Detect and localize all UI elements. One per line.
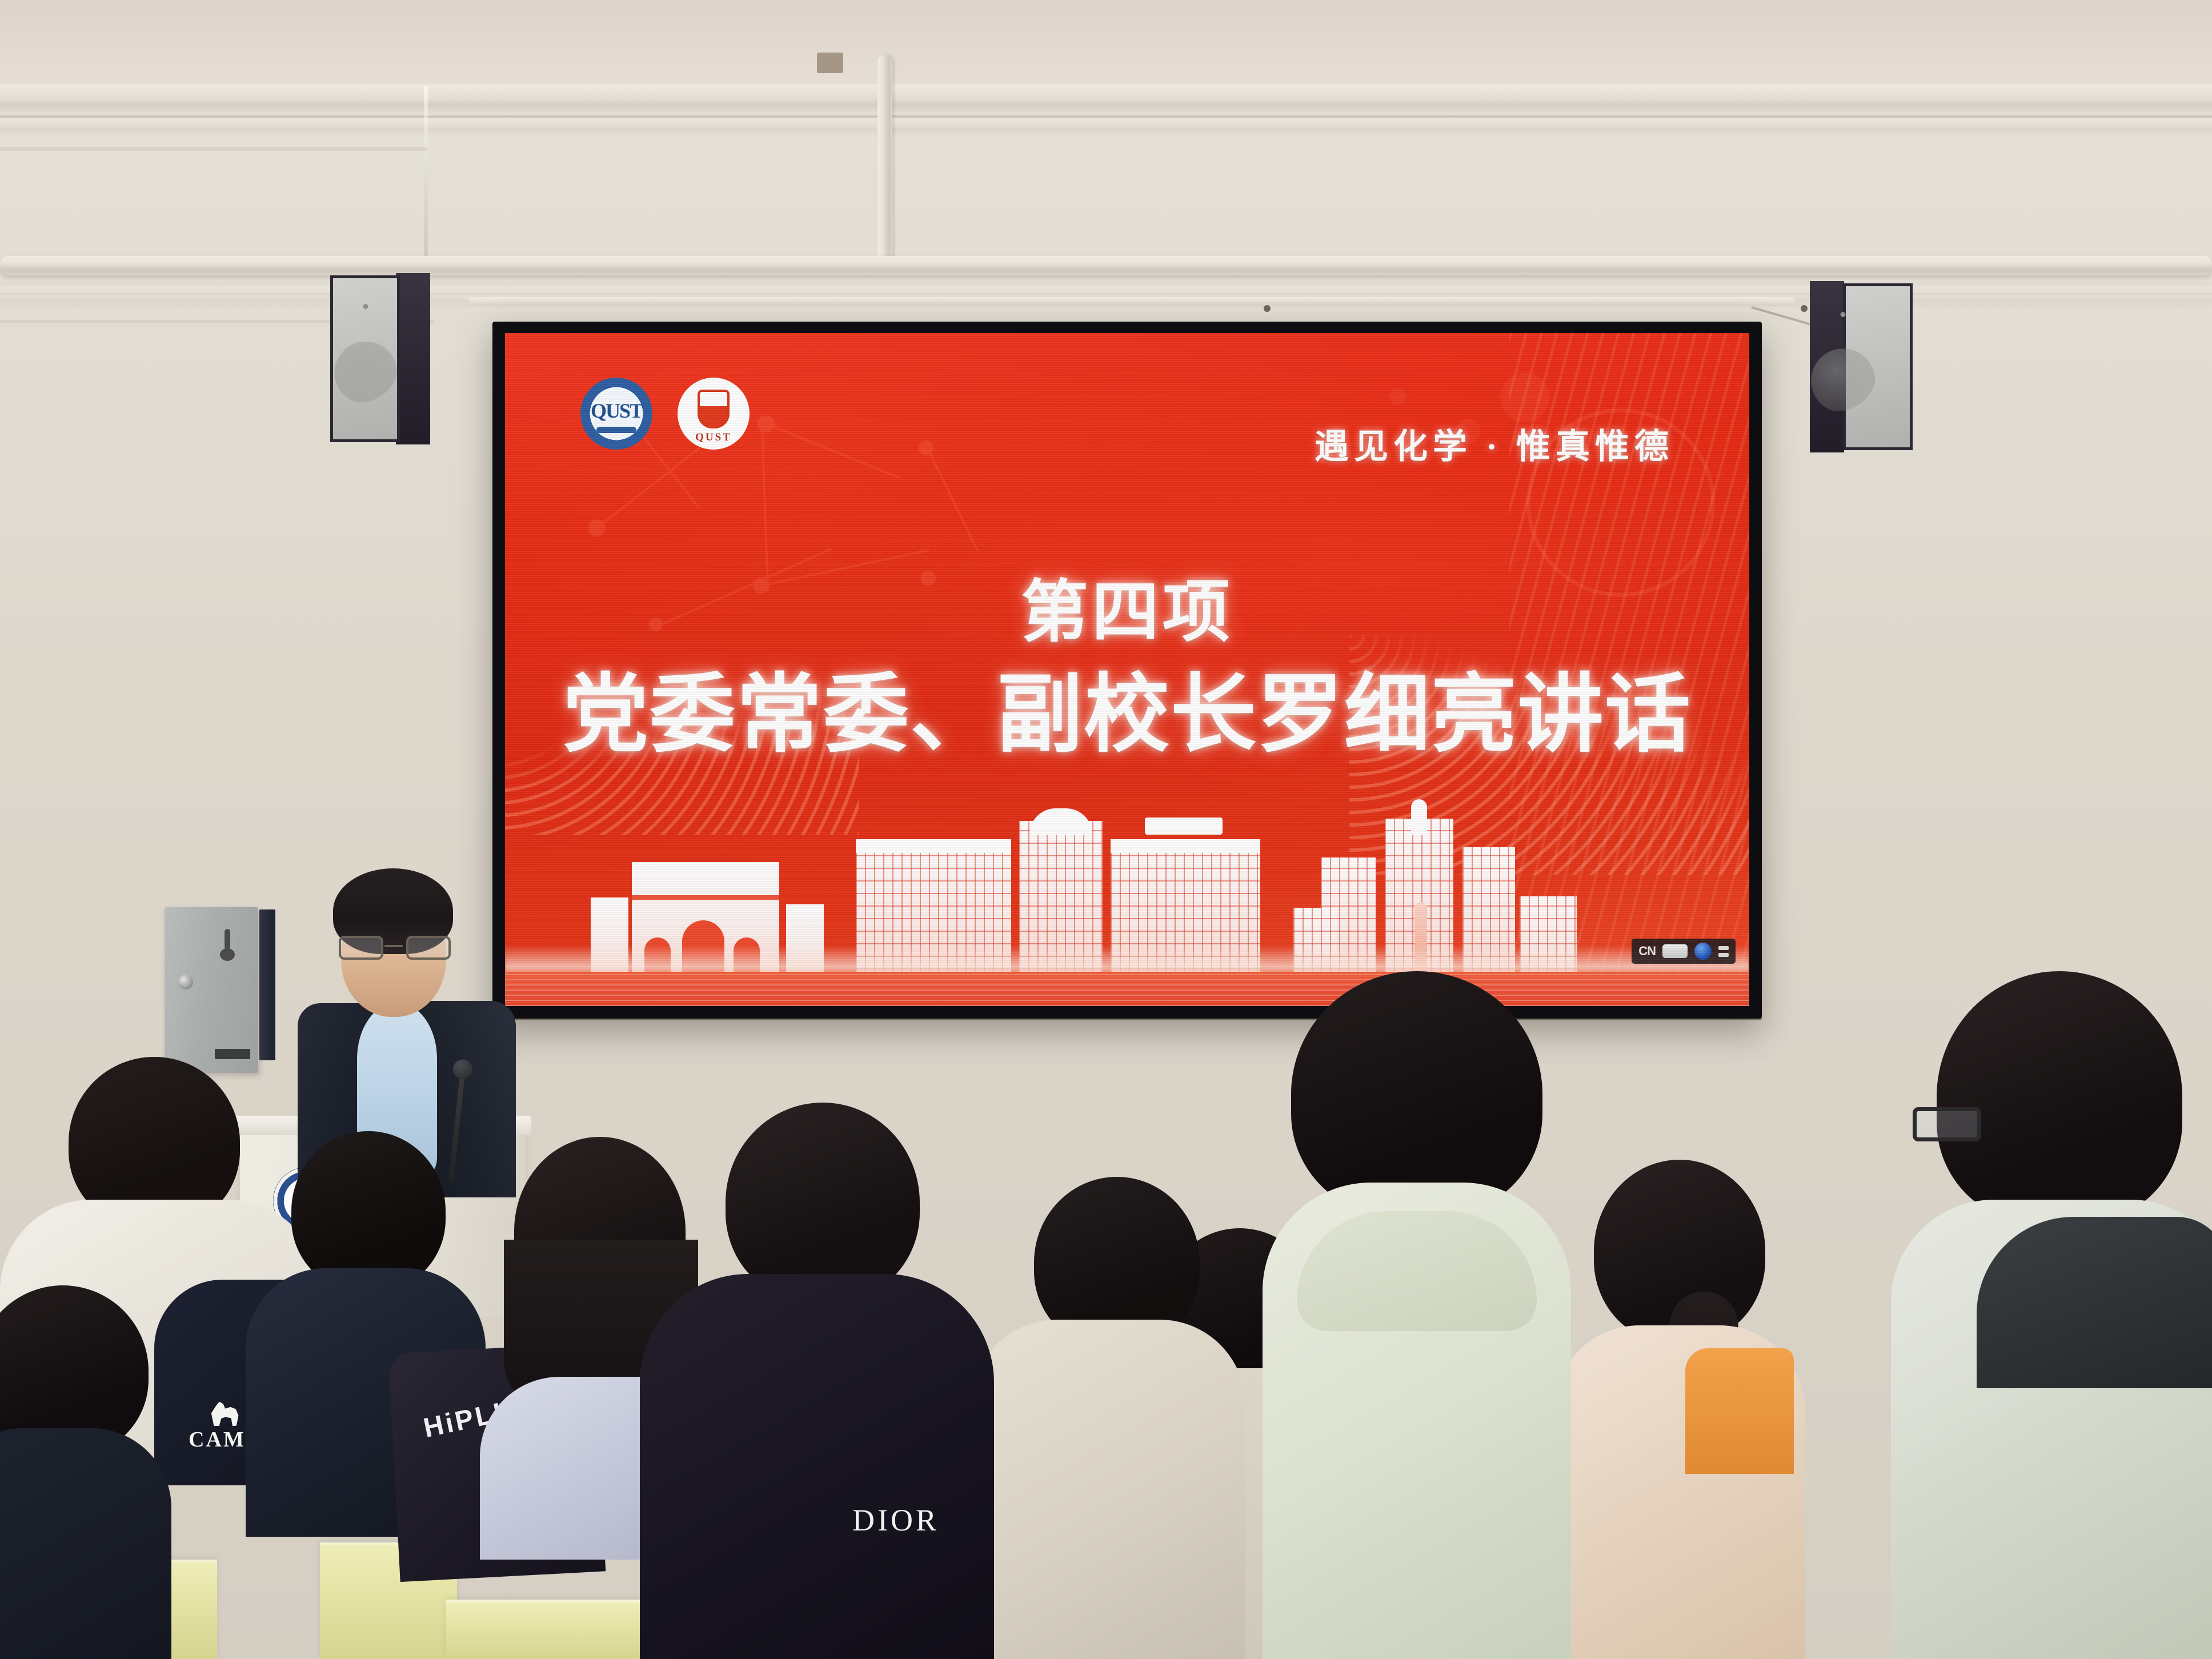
tray-stack-icon[interactable] <box>1718 946 1729 957</box>
wall-panel-join-left <box>424 86 428 263</box>
browser-icon[interactable] <box>1694 943 1712 960</box>
screen-mount-rail <box>468 297 1794 306</box>
audience-member-right-glasses <box>1902 971 2212 1659</box>
wall-conduit-horizontal <box>0 256 2212 275</box>
right-audience-glasses-icon <box>1913 1107 1998 1145</box>
building-spire <box>1411 799 1427 835</box>
keyboard-tray-icon[interactable] <box>1662 944 1688 958</box>
slide-title-line-2: 党委常委、副校长罗细亮讲话 <box>505 645 1749 769</box>
audience-member-center-1 <box>971 1177 1245 1659</box>
control-box-spine <box>259 909 275 1060</box>
mount-screw-2 <box>1801 305 1808 312</box>
mount-screw-1 <box>1264 305 1271 312</box>
audience-member-dior: DIOR <box>640 1103 994 1659</box>
wall-conduit-vertical <box>877 55 892 272</box>
control-box-hook <box>225 929 230 956</box>
orange-collar <box>1685 1348 1794 1474</box>
slide-title-line-1: 第四项 <box>505 557 1749 655</box>
slide-slogan: 遇见化学 · 惟真惟德 <box>1315 419 1674 468</box>
ceiling-anchor-block <box>817 53 843 73</box>
lecture-hall-photo: QUST QUST 遇见化学 · 惟真惟德 第四项 党委常委、副校长罗细亮讲话 <box>0 0 2212 1659</box>
wall-speaker-right <box>1810 281 1913 452</box>
hoodie-collar <box>1977 1217 2212 1388</box>
windows-taskbar-tray[interactable]: CN <box>1632 939 1736 964</box>
wall-speaker-left <box>330 273 430 444</box>
wall-trim-line-2 <box>0 147 427 151</box>
control-box-door[interactable] <box>165 907 258 1073</box>
brand-dior-text: DIOR <box>852 1502 939 1538</box>
presenter-glasses-icon <box>339 936 451 961</box>
audience-member-center-tall <box>1245 971 1588 1659</box>
blob-motif-3 <box>1389 388 1406 405</box>
wall-control-box[interactable] <box>165 907 279 1073</box>
ceiling <box>0 0 2212 86</box>
cornice-upper <box>0 85 2212 118</box>
qust-chemistry-college-seal-icon: QUST <box>678 378 750 450</box>
cornice-lower <box>0 118 2212 137</box>
qust-seal-text: QUST <box>695 431 732 444</box>
qust-university-seal-icon: QUST <box>580 378 652 450</box>
control-box-lock-icon[interactable] <box>178 975 193 989</box>
ime-indicator[interactable]: CN <box>1638 944 1656 959</box>
audience-member-far-left-partial <box>0 1285 166 1659</box>
slide-surface: QUST QUST 遇见化学 · 惟真惟德 第四项 党委常委、副校长罗细亮讲话 <box>505 333 1749 1006</box>
led-presentation-screen[interactable]: QUST QUST 遇见化学 · 惟真惟德 第四项 党委常委、副校长罗细亮讲话 <box>492 322 1762 1019</box>
